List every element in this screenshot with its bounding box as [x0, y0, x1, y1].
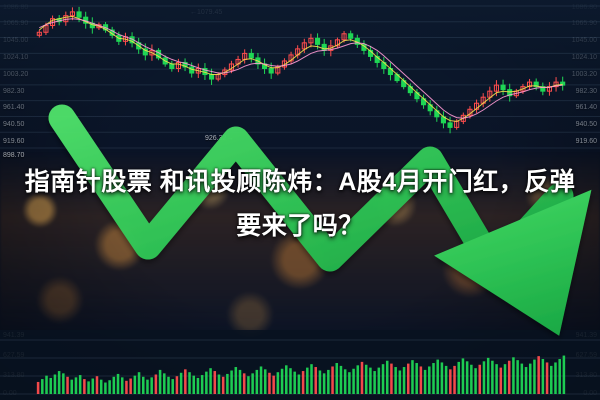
- screenshot-root: 1086.80 1065.90 1045.00 1024.10 1003.20 …: [0, 0, 600, 400]
- headline-line-1: 指南针股票 和讯投顾陈炜：A股4月开门红，反弹: [0, 160, 600, 204]
- headline-line-2: 要来了吗？: [0, 204, 600, 248]
- headline-text: 指南针股票 和讯投顾陈炜：A股4月开门红，反弹 要来了吗？: [0, 160, 600, 248]
